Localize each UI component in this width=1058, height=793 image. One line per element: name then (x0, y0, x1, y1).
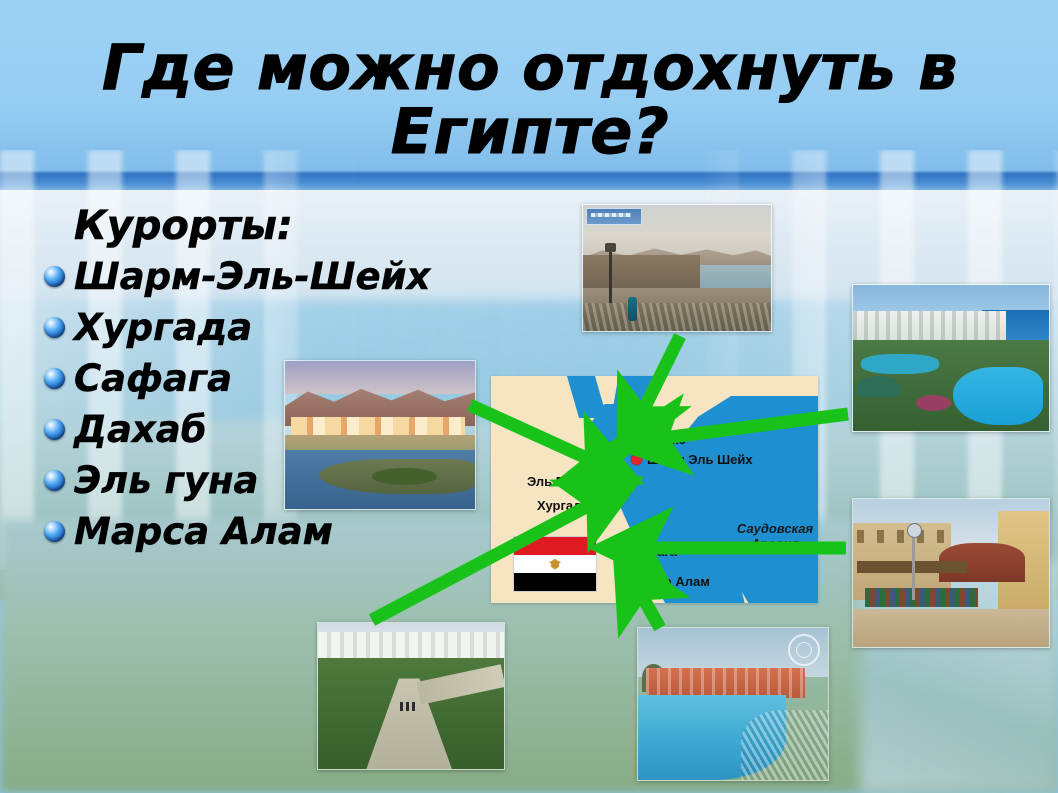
map-dot-hurghada (603, 500, 614, 511)
map-label-dahab: Дахаб (647, 432, 686, 447)
map-label-elgouna: Эль Гуна (527, 474, 585, 489)
photo-lamp-post (912, 529, 915, 600)
map-label-marsaalam: Марса Алам (631, 574, 710, 589)
photo-content (285, 361, 475, 509)
resort-label-marsaalam: Марса Алам (74, 513, 333, 550)
photo-ground (853, 609, 1049, 647)
town-square-photo (852, 498, 1050, 648)
photo-sky (285, 361, 475, 394)
photo-pool-lower (953, 367, 1043, 425)
photo-bushes (372, 468, 437, 486)
photo-person (628, 297, 637, 321)
safaga-lagoon-photo (284, 360, 476, 510)
resort-label-sharm: Шарм-Эль-Шейх (74, 258, 430, 295)
sharm-resort-photo (852, 284, 1050, 432)
egypt-flag-icon (513, 536, 597, 592)
bullet-sphere-icon (44, 470, 65, 491)
flag-stripe-black (514, 573, 596, 591)
resort-label-elgouna: Эль гуна (74, 462, 259, 499)
photo-pool-deck (741, 710, 828, 780)
resort-label-hurghada: Хургада (74, 309, 252, 346)
photo-content (318, 623, 504, 769)
list-item: Шарм-Эль-Шейх (44, 252, 474, 300)
bullet-sphere-icon (44, 368, 65, 389)
page-title-line-1: Где можно отдохнуть в (102, 31, 958, 104)
photo-lamp-post (609, 250, 612, 303)
page-title: Где можно отдохнуть в Египте? (60, 36, 1000, 164)
map-dot-sharm (631, 454, 642, 465)
map-dot-marsaalam (617, 584, 628, 595)
map-dot-elgouna (597, 476, 608, 487)
bullet-sphere-icon (44, 521, 65, 542)
marsa-alam-pool-photo (637, 627, 829, 781)
map-label-saudi-line2: Аравия (751, 536, 799, 551)
egypt-map: Дахаб Шарм Эль Шейх Эль Гуна Хургада Саф… (491, 376, 818, 603)
list-item: Хургада (44, 303, 474, 351)
dahab-beach-photo (582, 204, 772, 332)
resort-label-safaga: Сафага (74, 360, 232, 397)
map-label-saudi-arabia: Саудовская Аравия (727, 522, 818, 552)
photo-green-roof (857, 376, 900, 398)
list-item: Марса Алам (44, 507, 474, 555)
photo-content (853, 285, 1049, 431)
map-label-sharm: Шарм Эль Шейх (647, 452, 753, 467)
el-gouna-garden-photo (317, 622, 505, 770)
photo-flowerbed (916, 395, 951, 411)
resort-list-heading: Курорты: (74, 206, 474, 246)
map-label-safaga: Сафага (629, 544, 677, 559)
photo-pool-upper (861, 354, 939, 374)
map-label-saudi-line1: Саудовская (737, 521, 813, 536)
resort-label-dahab: Дахаб (74, 411, 207, 448)
photo-people (400, 702, 416, 711)
photo-stones (583, 303, 771, 331)
map-label-hurghada: Хургада (537, 498, 589, 513)
slide-canvas: Где можно отдохнуть в Египте? Курорты: Ш… (0, 0, 1058, 793)
flag-stripe-red (514, 537, 596, 555)
watermark-icon (788, 634, 820, 666)
bullet-sphere-icon (44, 266, 65, 287)
photo-hotel-block (646, 668, 806, 698)
photo-content (853, 499, 1049, 647)
page-title-line-2: Египте? (60, 100, 1000, 164)
bullet-sphere-icon (44, 419, 65, 440)
photo-crowd (865, 588, 979, 607)
map-dot-dahab (631, 434, 642, 445)
watermark-icon (586, 208, 642, 225)
map-dot-safaga (615, 556, 626, 567)
bullet-sphere-icon (44, 317, 65, 338)
